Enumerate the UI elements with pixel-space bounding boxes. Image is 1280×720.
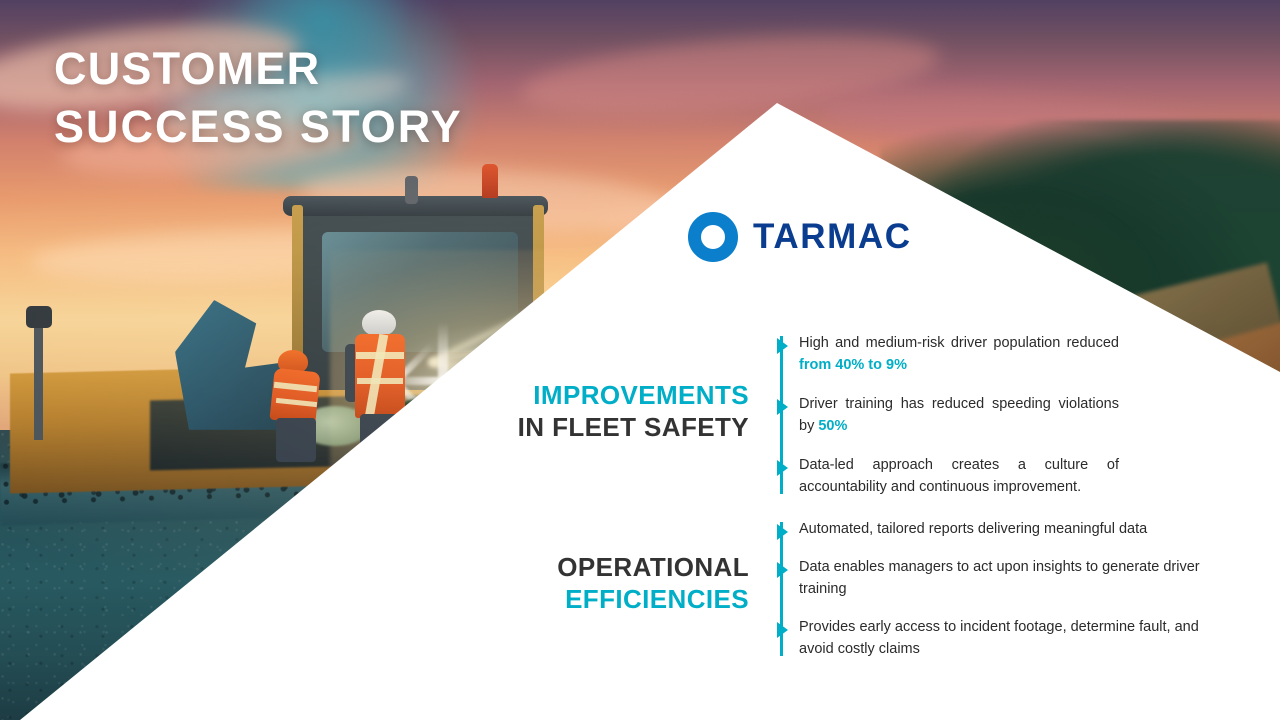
section-heading-efficiencies: OPERATIONAL EFFICIENCIES: [503, 518, 749, 660]
arrow-marker-icon: [777, 399, 788, 415]
heading-line-1: OPERATIONAL: [503, 552, 749, 584]
arrow-marker-icon: [777, 622, 788, 638]
warning-beacon-icon: [482, 164, 498, 198]
list-item: High and medium-risk driver population r…: [799, 332, 1119, 376]
tarmac-logo: TARMAC: [688, 212, 912, 262]
arrow-marker-icon: [777, 460, 788, 476]
list-item: Provides early access to incident footag…: [799, 616, 1219, 660]
bullet-text: Automated, tailored reports delivering m…: [799, 521, 1147, 537]
section-heading-improvements: IMPROVEMENTS IN FLEET SAFETY: [503, 332, 749, 498]
hard-hat: [362, 310, 396, 336]
grade-sensor-head: [26, 306, 52, 328]
success-story-slide: CUSTOMER SUCCESS STORY TARMAC IMPROVEMEN…: [0, 0, 1280, 720]
title-line-1: CUSTOMER: [54, 40, 463, 98]
hi-vis-vest: [269, 368, 320, 425]
heading-line-1: IMPROVEMENTS: [503, 380, 749, 412]
section-efficiencies: OPERATIONAL EFFICIENCIES Automated, tail…: [503, 518, 1219, 660]
heading-line-2: IN FLEET SAFETY: [503, 412, 749, 444]
bullet-highlight: 50%: [818, 418, 847, 434]
worker-legs: [276, 418, 316, 462]
arrow-marker-icon: [777, 338, 788, 354]
section-improvements: IMPROVEMENTS IN FLEET SAFETY High and me…: [503, 332, 1119, 498]
bullet-list-efficiencies: Automated, tailored reports delivering m…: [777, 518, 1219, 660]
page-title: CUSTOMER SUCCESS STORY: [54, 40, 463, 155]
list-item: Data-led approach creates a culture of a…: [799, 454, 1119, 498]
bullet-list-improvements: High and medium-risk driver population r…: [777, 332, 1119, 498]
heading-line-2: EFFICIENCIES: [503, 584, 749, 616]
grade-sensor-mast: [34, 320, 43, 440]
bullet-text: Provides early access to incident footag…: [799, 619, 1199, 657]
arrow-marker-icon: [777, 562, 788, 578]
bullet-highlight: from 40% to 9%: [799, 357, 907, 373]
list-item: Data enables managers to act upon insigh…: [799, 556, 1219, 600]
title-line-2: SUCCESS STORY: [54, 98, 463, 156]
list-item: Driver training has reduced speeding vio…: [799, 393, 1119, 437]
list-item: Automated, tailored reports delivering m…: [799, 518, 1219, 540]
bullet-text: Data enables managers to act upon insigh…: [799, 559, 1200, 597]
bullet-text: High and medium-risk driver population r…: [799, 335, 1119, 351]
bullet-text: Data-led approach creates a culture of a…: [799, 457, 1119, 495]
tarmac-ring-icon: [688, 212, 738, 262]
arrow-marker-icon: [777, 524, 788, 540]
exhaust-stack: [405, 176, 418, 204]
tarmac-wordmark: TARMAC: [753, 217, 912, 257]
